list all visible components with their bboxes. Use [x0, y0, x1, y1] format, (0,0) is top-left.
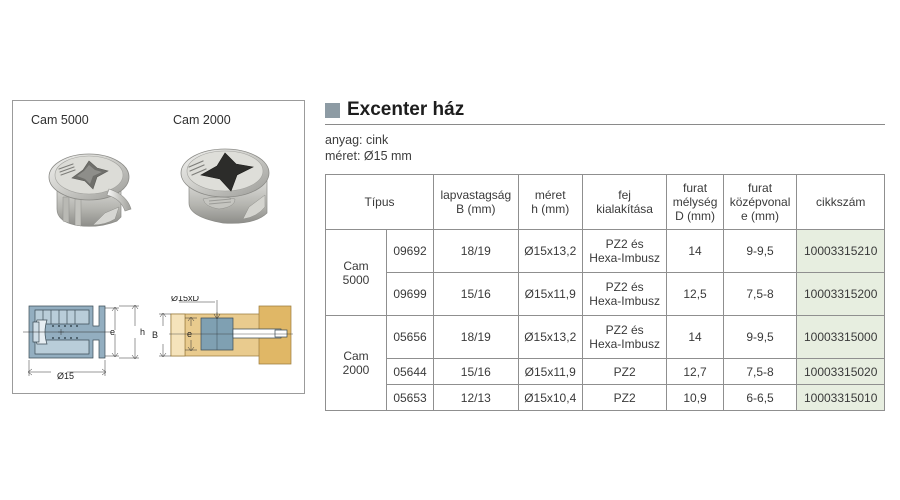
cell-furat-kozepvonal: 9-9,5 [723, 316, 797, 359]
table-body: Cam50000969218/19Ø15x13,2PZ2 ésHexa-Imbu… [326, 230, 885, 411]
product-figure-panel: Cam 5000 Cam 2000 [12, 100, 305, 394]
dim-label-b: B [152, 330, 158, 340]
col-header-meret-line1: méret [522, 188, 579, 202]
col-header-fej: fej kialakítása [582, 175, 667, 230]
cell-furat-melyseg: 12,5 [667, 273, 723, 316]
cell-furat-melyseg: 12,7 [667, 359, 723, 385]
page-title-row: Excenter ház [325, 100, 885, 120]
cell-code: 09692 [387, 230, 434, 273]
cell-cikkszam: 10003315010 [797, 385, 885, 411]
cell-furat-melyseg: 14 [667, 230, 723, 273]
table-row: Cam20000565618/19Ø15x13,2PZ2 ésHexa-Imbu… [326, 316, 885, 359]
technical-cross-section-drawing: e h Ø15 Ø15xD B e [19, 296, 299, 388]
col-header-furat-melyseg: furat mélység D (mm) [667, 175, 723, 230]
col-header-cikkszam-line1: cikkszám [800, 195, 881, 209]
cell-cikkszam: 10003315200 [797, 273, 885, 316]
cell-lapvastagsag: 18/19 [434, 316, 519, 359]
col-header-furat-melyseg-line3: D (mm) [670, 209, 719, 223]
col-header-tipus: Típus [326, 175, 434, 230]
cell-meret: Ø15x11,9 [518, 359, 582, 385]
cell-furat-kozepvonal: 7,5-8 [723, 273, 797, 316]
cell-furat-melyseg: 10,9 [667, 385, 723, 411]
cam-lock-photo-5000 [35, 137, 145, 229]
cell-fej: PZ2 ésHexa-Imbusz [582, 273, 667, 316]
fej-line: PZ2 és [586, 237, 664, 251]
photo-label-cam-5000: Cam 5000 [31, 113, 89, 127]
dim-label-e-left: e [110, 327, 115, 337]
page-title: Excenter ház [347, 100, 464, 120]
table-row: 0969915/16Ø15x11,9PZ2 ésHexa-Imbusz12,57… [326, 273, 885, 316]
col-header-meret: méret h (mm) [518, 175, 582, 230]
cell-lapvastagsag: 12/13 [434, 385, 519, 411]
cell-lapvastagsag: 15/16 [434, 359, 519, 385]
table-header: Típus lapvastagság B (mm) méret h (mm) f… [326, 175, 885, 230]
title-marker-square [325, 103, 340, 118]
col-header-furat-kozepvonal-line3: e (mm) [727, 209, 794, 223]
cell-cikkszam: 10003315020 [797, 359, 885, 385]
specification-lines: anyag: cink méret: Ø15 mm [325, 132, 885, 164]
cell-meret: Ø15x10,4 [518, 385, 582, 411]
cell-furat-kozepvonal: 6-6,5 [723, 385, 797, 411]
group-label-line: Cam [329, 259, 383, 273]
cell-code: 05656 [387, 316, 434, 359]
col-header-tipus-line1: Típus [329, 195, 430, 209]
col-header-fej-line2: kialakítása [586, 202, 664, 216]
spec-line-size: méret: Ø15 mm [325, 148, 885, 164]
dim-label-h: h [140, 327, 145, 337]
fej-line: Hexa-Imbusz [586, 294, 664, 308]
fej-line: PZ2 [586, 391, 664, 405]
cell-fej: PZ2 ésHexa-Imbusz [582, 230, 667, 273]
cell-lapvastagsag: 15/16 [434, 273, 519, 316]
group-label-line: 5000 [329, 273, 383, 287]
cell-cikkszam: 10003315210 [797, 230, 885, 273]
cell-furat-kozepvonal: 9-9,5 [723, 230, 797, 273]
cam-lock-photo-2000 [173, 137, 277, 227]
col-header-cikkszam: cikkszám [797, 175, 885, 230]
cell-fej: PZ2 [582, 359, 667, 385]
specification-table: Típus lapvastagság B (mm) méret h (mm) f… [325, 174, 885, 411]
dim-label-e-right: e [187, 329, 192, 339]
cell-group-label: Cam2000 [326, 316, 387, 411]
fej-line: Hexa-Imbusz [586, 251, 664, 265]
cell-meret: Ø15x13,2 [518, 230, 582, 273]
table-row: 0564415/16Ø15x11,9PZ212,77,5-81000331502… [326, 359, 885, 385]
product-content: Excenter ház anyag: cink méret: Ø15 mm T… [325, 100, 885, 411]
cell-fej: PZ2 [582, 385, 667, 411]
cell-meret: Ø15x13,2 [518, 316, 582, 359]
cell-cikkszam: 10003315000 [797, 316, 885, 359]
group-label-line: 2000 [329, 363, 383, 377]
col-header-lapvastagsag-line1: lapvastagság [437, 188, 515, 202]
table-row: 0565312/13Ø15x10,4PZ210,96-6,51000331501… [326, 385, 885, 411]
col-header-furat-melyseg-line2: mélység [670, 195, 719, 209]
cell-fej: PZ2 ésHexa-Imbusz [582, 316, 667, 359]
cell-code: 05644 [387, 359, 434, 385]
fej-line: Hexa-Imbusz [586, 337, 664, 351]
photo-label-cam-2000: Cam 2000 [173, 113, 231, 127]
group-label-line: Cam [329, 349, 383, 363]
spec-line-material: anyag: cink [325, 132, 885, 148]
cell-code: 09699 [387, 273, 434, 316]
col-header-fej-line1: fej [586, 188, 664, 202]
col-header-meret-line2: h (mm) [522, 202, 579, 216]
cell-meret: Ø15x11,9 [518, 273, 582, 316]
fej-line: PZ2 és [586, 323, 664, 337]
col-header-furat-kozepvonal-line2: középvonal [727, 195, 794, 209]
cell-code: 05653 [387, 385, 434, 411]
table-header-row: Típus lapvastagság B (mm) méret h (mm) f… [326, 175, 885, 230]
cell-group-label: Cam5000 [326, 230, 387, 316]
fej-line: PZ2 és [586, 280, 664, 294]
table-row: Cam50000969218/19Ø15x13,2PZ2 ésHexa-Imbu… [326, 230, 885, 273]
cell-furat-melyseg: 14 [667, 316, 723, 359]
dim-label-d15-left: Ø15 [57, 371, 74, 381]
col-header-lapvastagsag: lapvastagság B (mm) [434, 175, 519, 230]
col-header-furat-melyseg-line1: furat [670, 181, 719, 195]
dim-label-d15xd: Ø15xD [171, 296, 200, 303]
col-header-furat-kozepvonal-line1: furat [727, 181, 794, 195]
title-divider [325, 124, 885, 125]
cell-furat-kozepvonal: 7,5-8 [723, 359, 797, 385]
fej-line: PZ2 [586, 365, 664, 379]
col-header-lapvastagsag-line2: B (mm) [437, 202, 515, 216]
cell-lapvastagsag: 18/19 [434, 230, 519, 273]
col-header-furat-kozepvonal: furat középvonal e (mm) [723, 175, 797, 230]
